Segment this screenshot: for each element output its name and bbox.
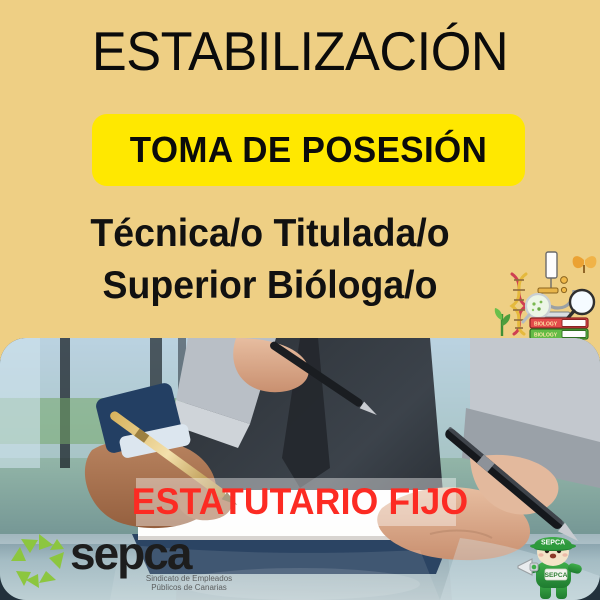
- pinwheel-aperture-icon: [8, 530, 70, 592]
- plant-sprout-icon: [495, 308, 510, 336]
- sepca-wordmark: sepca: [70, 530, 190, 576]
- sepca-tagline: Sindicato de Empleados Públicos de Canar…: [134, 574, 244, 592]
- subtitle-block: Técnica/o Titulada/o Superior Bióloga/o: [11, 208, 529, 312]
- status-badge: TOMA DE POSESIÓN: [92, 114, 525, 186]
- sepca-tagline-line-1: Sindicato de Empleados: [134, 574, 244, 583]
- sepca-mascot: SEPCA SEPCA: [514, 522, 592, 600]
- subtitle-line-2: Superior Bióloga/o: [11, 260, 529, 312]
- book-label-top: BIOLOGY: [534, 322, 558, 328]
- status-badge-label: TOMA DE POSESIÓN: [98, 114, 518, 186]
- magnifying-glass-icon: [567, 290, 594, 319]
- header-panel: ESTABILIZACIÓN TOMA DE POSESIÓN Técnica/…: [0, 0, 600, 340]
- sepca-tagline-line-2: Públicos de Canarias: [134, 583, 244, 592]
- biology-illustration: BIOLOGY BIOLOGY: [492, 248, 600, 340]
- books-icon: BIOLOGY BIOLOGY: [530, 318, 588, 339]
- mascot-vest-label: SEPCA: [545, 572, 568, 579]
- poster-canvas: ESTABILIZACIÓN TOMA DE POSESIÓN Técnica/…: [0, 0, 600, 600]
- overlay-caption: ESTATUTARIO FIJO: [12, 479, 588, 525]
- subtitle-line-1: Técnica/o Titulada/o: [11, 208, 529, 260]
- mascot-hat-label: SEPCA: [541, 539, 565, 546]
- sepca-logo: sepca Sindicato de Empleados Públicos de…: [8, 528, 238, 594]
- dna-helix-icon: [512, 274, 526, 334]
- butterfly-icon: [573, 256, 597, 273]
- page-title: ESTABILIZACIÓN: [15, 18, 585, 84]
